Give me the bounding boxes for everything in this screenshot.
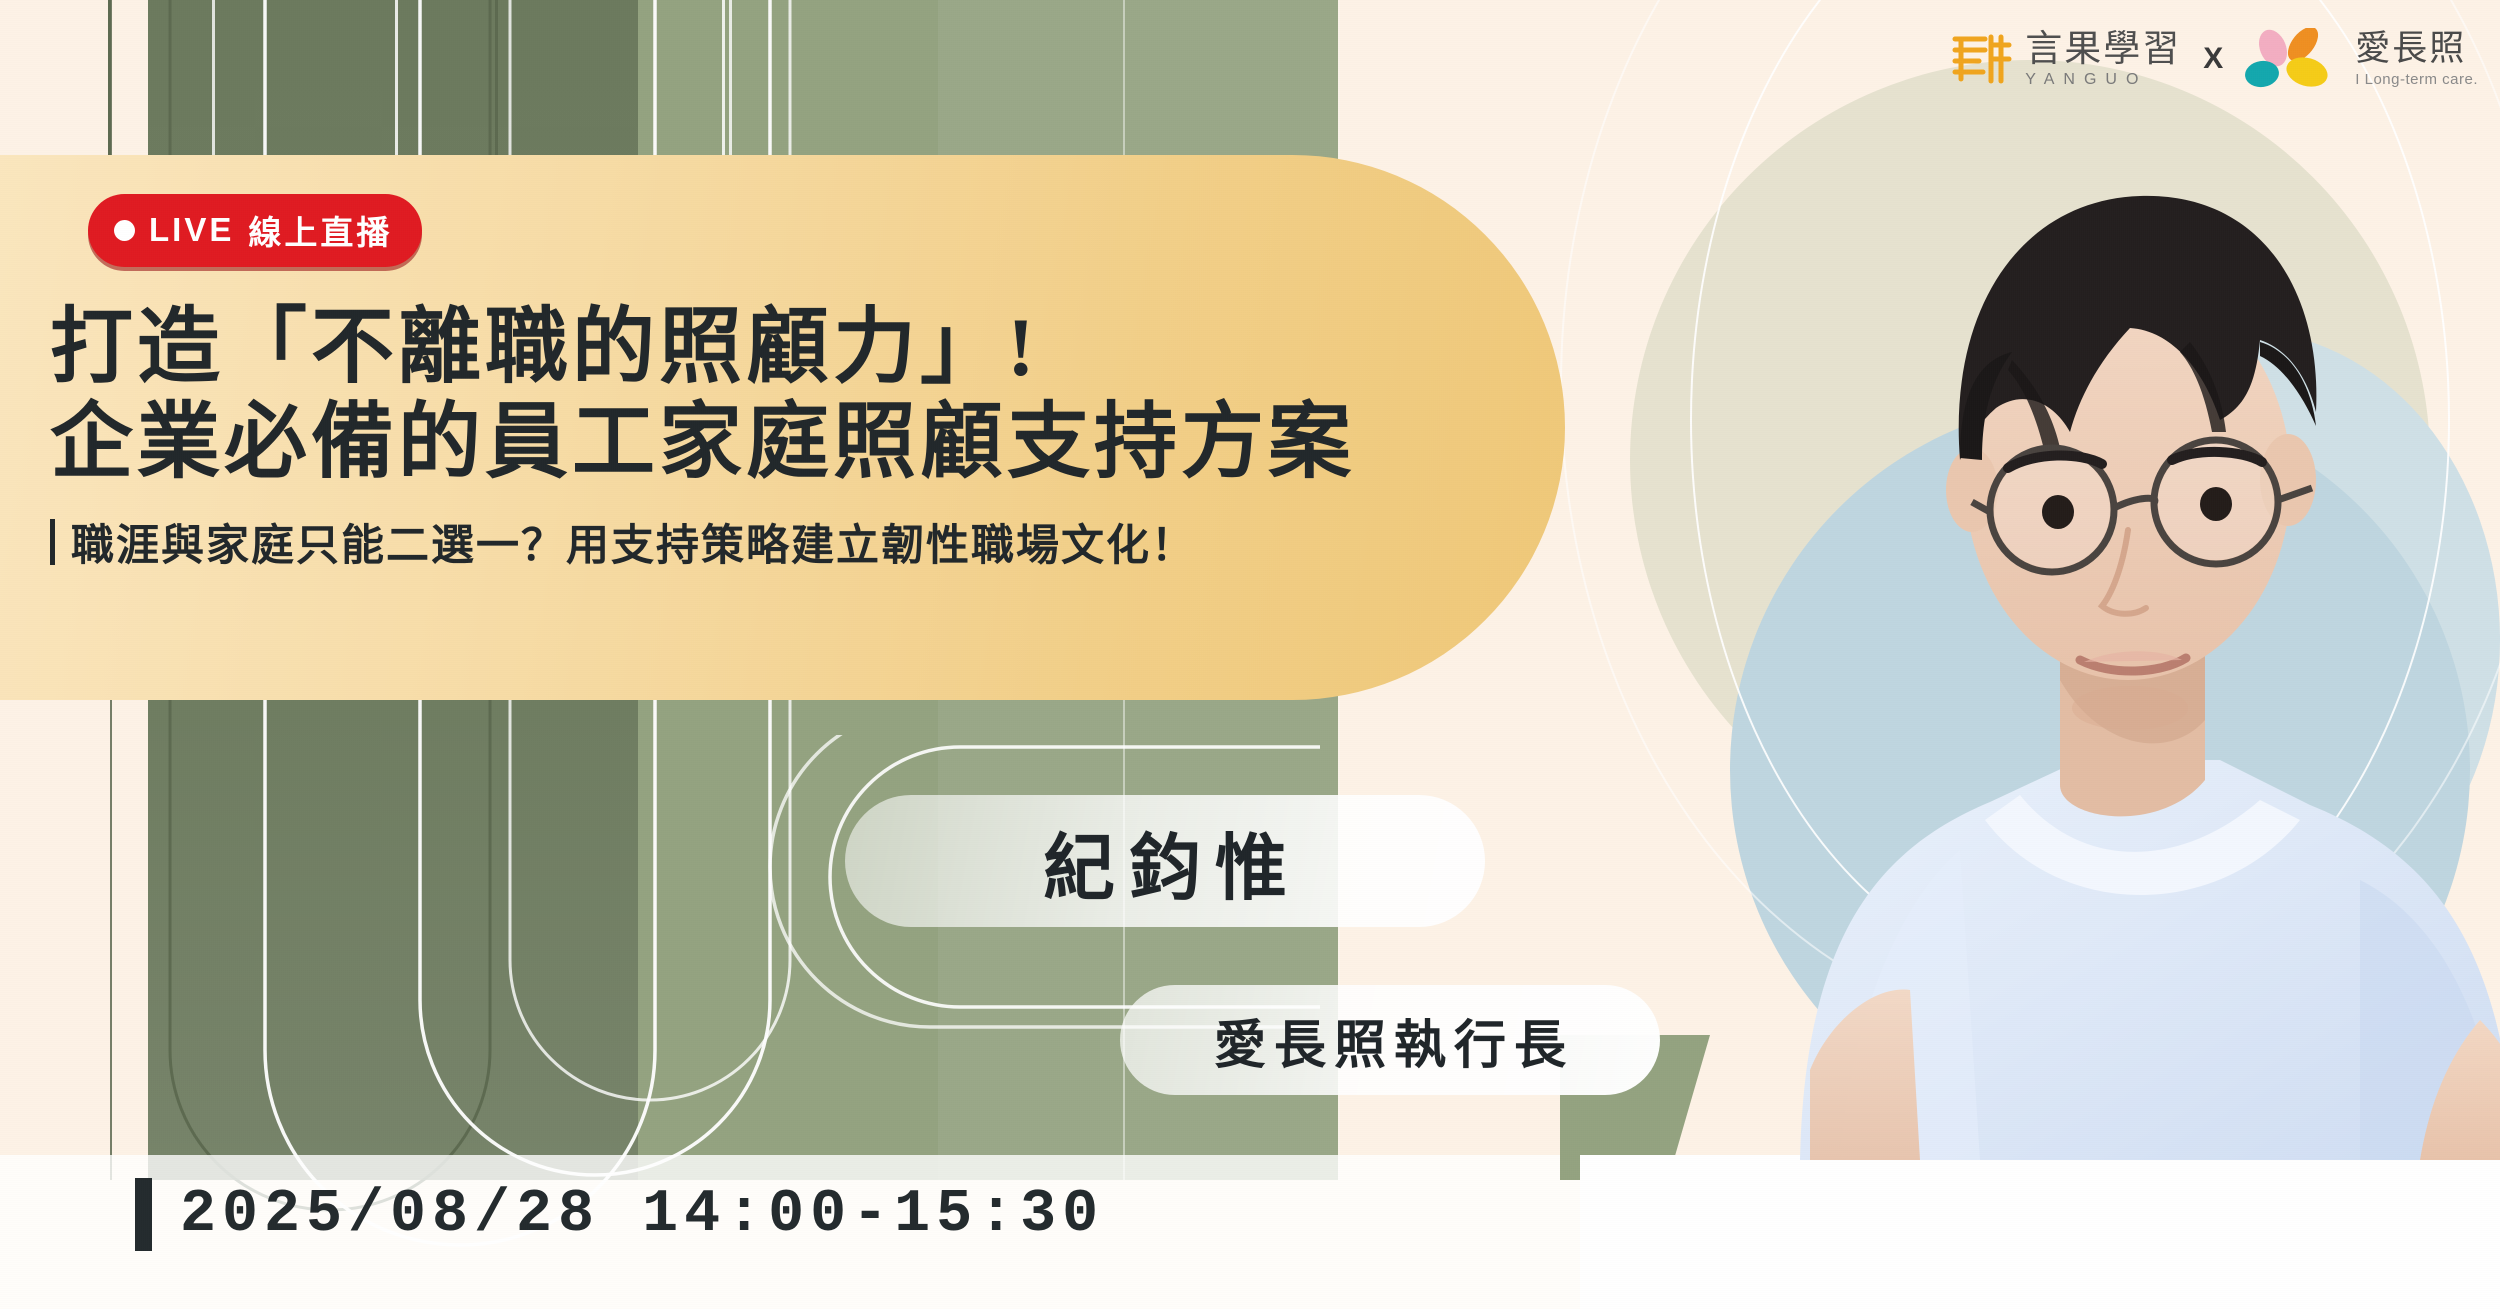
schedule-row: 2025/08/28 14:00-15:30 [135,1178,1104,1251]
webinar-poster: 言果學習 YANGUO X 愛長照 I Long-term care. LIVE… [0,0,2500,1309]
ailongzhao-logo-mark [2245,28,2345,90]
subtitle-row: 職涯與家庭只能二選一？用支持策略建立韌性職場文化！ [50,511,1610,573]
ailongzhao-name-cn: 愛長照 [2355,31,2478,66]
partner-logos: 言果學習 YANGUO X 愛長照 I Long-term care. [1949,28,2478,90]
logo-yanguo: 言果學習 YANGUO [1949,30,2181,88]
live-dot-icon [114,220,135,241]
subtitle-text: 職涯與家庭只能二選一？用支持策略建立韌性職場文化！ [71,511,1196,573]
live-label-en: LIVE [149,211,234,249]
speaker-role: 愛長照執行長 [1206,1003,1574,1078]
yanguo-name-cn: 言果學習 [2025,30,2181,67]
schedule-bar-icon [135,1178,152,1251]
title-line-2: 企業必備的員工家庭照顧支持方案 [50,395,1610,490]
speaker-name: 紀鈞惟 [1029,809,1301,914]
ailongzhao-name-en: I Long-term care. [2355,72,2478,87]
live-label-cn: 線上直播 [248,206,392,254]
speaker-name-pill: 紀鈞惟 [845,795,1485,927]
speaker-portrait [1660,60,2500,1160]
yanguo-name-en: YANGUO [2025,72,2181,88]
yanguo-logo-mark [1949,31,2015,87]
logo-separator: X [2203,42,2223,76]
live-badge: LIVE 線上直播 [88,194,422,267]
subtitle-bar-icon [50,519,55,565]
logo-ailongzhao: 愛長照 I Long-term care. [2245,28,2478,90]
schedule-datetime: 2025/08/28 14:00-15:30 [180,1181,1104,1249]
bottom-white-right [1580,1155,2500,1309]
title-block: 打造「不離職的照顧力」! 企業必備的員工家庭照顧支持方案 職涯與家庭只能二選一？… [50,300,1610,573]
speaker-role-pill: 愛長照執行長 [1120,985,1660,1095]
title-line-1: 打造「不離職的照顧力」! [50,300,1610,395]
